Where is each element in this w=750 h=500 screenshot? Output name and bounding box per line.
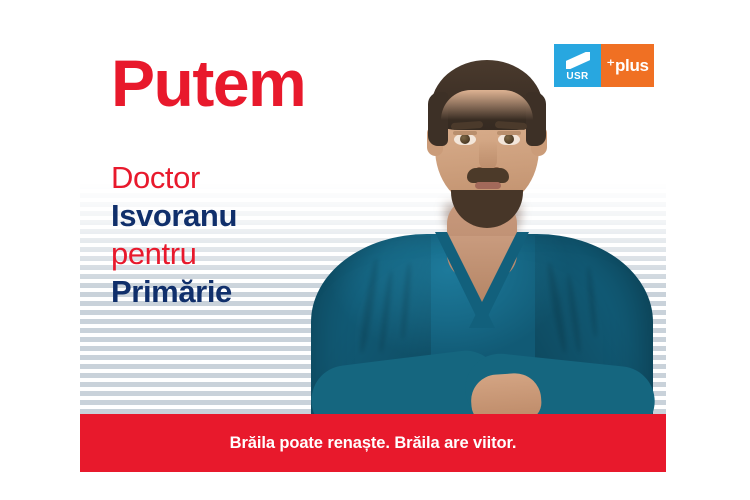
forehead (441, 90, 533, 120)
subheadline-line-primarie: Primărie (111, 273, 305, 311)
plus-logo-label: ⁺plus (601, 56, 654, 76)
usr-logo-block: USR (554, 44, 601, 87)
plus-logo-block: ⁺plus (601, 44, 654, 87)
headline-putem: Putem (111, 52, 305, 115)
subheadline-line-doctor: Doctor (111, 159, 305, 197)
campaign-poster: Putem Doctor Isvoranu pentru Primărie US… (80, 22, 666, 472)
slogan-banner: Brăila poate renaște. Brăila are viitor. (80, 414, 666, 472)
iris-left (460, 134, 470, 144)
slogan-text: Brăila poate renaște. Brăila are viitor. (230, 434, 517, 453)
eyelid-left (453, 131, 477, 135)
poster-canvas: Putem Doctor Isvoranu pentru Primărie US… (0, 0, 750, 500)
party-logo-usr-plus: USR ⁺plus (554, 44, 654, 87)
subheadline-line-isvoranu: Isvoranu (111, 197, 305, 235)
usr-logo-label: USR (554, 71, 601, 82)
subheadline-line-pentru: pentru (111, 235, 305, 273)
eyelid-right (497, 131, 521, 135)
iris-right (504, 134, 514, 144)
headline-block: Putem Doctor Isvoranu pentru Primărie (111, 52, 305, 311)
mustache (467, 168, 509, 183)
usr-flag-icon (566, 52, 590, 69)
lips (475, 182, 501, 189)
